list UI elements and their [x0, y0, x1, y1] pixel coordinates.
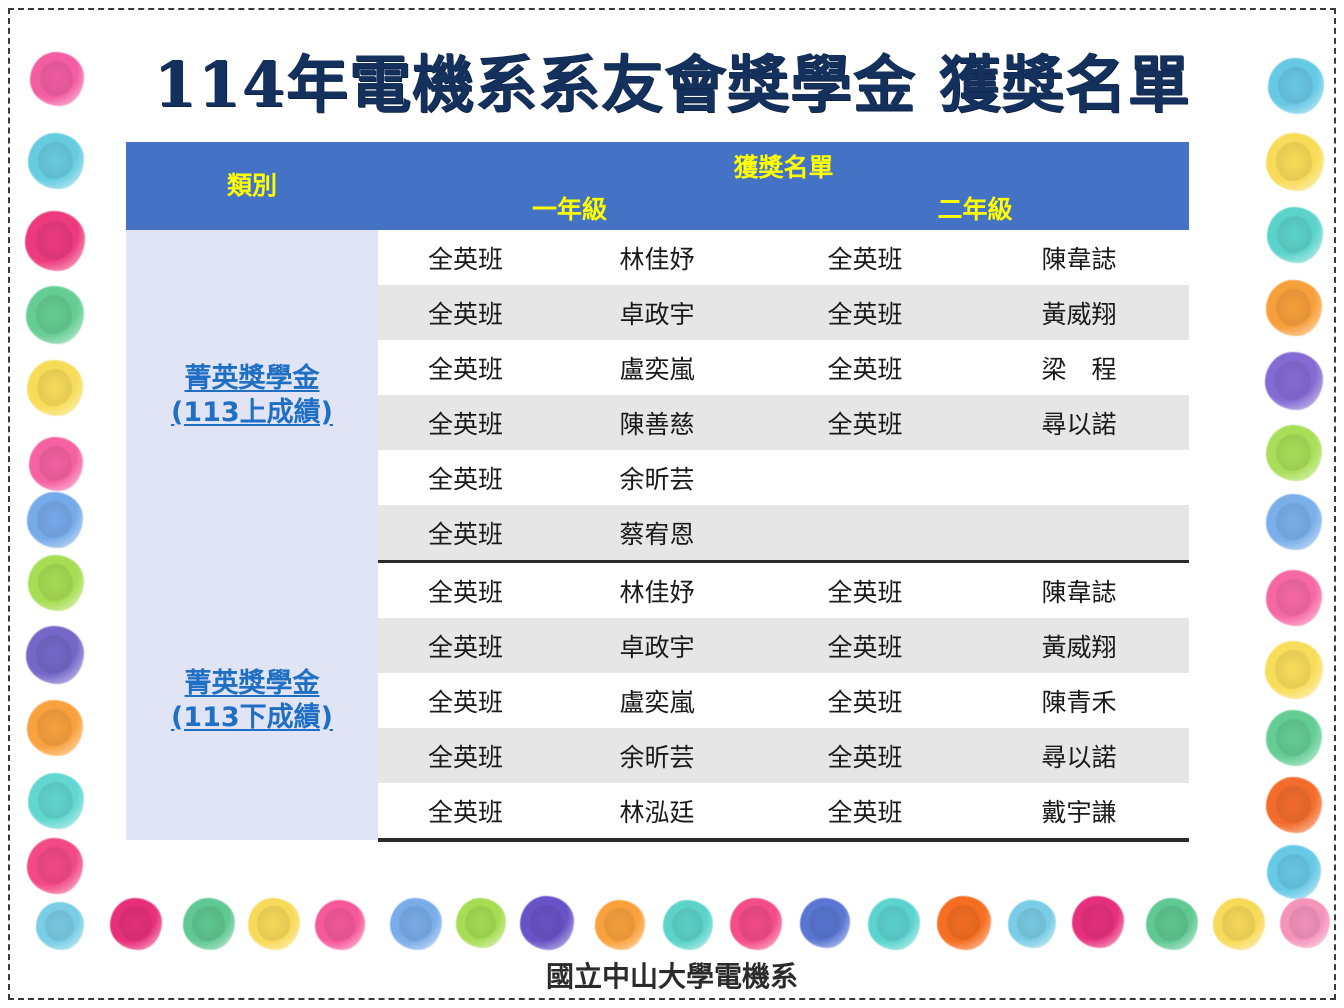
grade2-name-cell: 陳青禾	[969, 673, 1189, 728]
category-label-line1: 菁英獎學金	[185, 668, 320, 699]
page-title: 114年電機系系友會獎學金 獲獎名單	[0, 34, 1344, 124]
grade1-class-cell: 全英班	[378, 505, 553, 562]
grade2-class-cell: 全英班	[761, 673, 969, 728]
grade1-class-cell: 全英班	[378, 285, 553, 340]
footer-department: 國立中山大學電機系	[0, 955, 1344, 995]
grade1-class-cell: 全英班	[378, 450, 553, 505]
header-names-group: 獲獎名單 一年級 二年級	[378, 142, 1189, 230]
grade2-class-cell: 全英班	[761, 340, 969, 395]
category-label-line2: (113下成績)	[126, 701, 378, 735]
watercolor-dot-right-9	[1266, 710, 1322, 766]
category-label-line2: (113上成績)	[126, 396, 378, 430]
watercolor-dot-bottom-1	[110, 898, 162, 950]
grade2-class-cell: 全英班	[761, 562, 969, 619]
grade1-name-cell: 盧奕嵐	[553, 340, 761, 395]
watercolor-dot-left-5	[29, 437, 83, 491]
grade2-name-cell: 戴宇謙	[969, 783, 1189, 840]
grade2-class-cell	[761, 505, 969, 562]
grade1-name-cell: 卓政宇	[553, 618, 761, 673]
watercolor-dot-bottom-17	[1213, 898, 1265, 950]
category-cell: 菁英獎學金(113上成績)	[126, 230, 378, 562]
watercolor-dot-bottom-13	[937, 896, 991, 950]
grade2-name-cell: 陳韋誌	[969, 230, 1189, 285]
grade1-name-cell: 余昕芸	[553, 728, 761, 783]
grade2-name-cell: 陳韋誌	[969, 562, 1189, 619]
grade1-name-cell: 余昕芸	[553, 450, 761, 505]
grade1-name-cell: 林佳妤	[553, 562, 761, 619]
watercolor-dot-right-2	[1267, 207, 1323, 263]
category-label-line1: 菁英獎學金	[185, 363, 320, 394]
header-grade2: 二年級	[761, 190, 1189, 226]
grade1-class-cell: 全英班	[378, 673, 553, 728]
watercolor-dot-bottom-8	[595, 900, 645, 950]
grade1-name-cell: 卓政宇	[553, 285, 761, 340]
watercolor-dot-bottom-4	[315, 900, 365, 950]
watercolor-dot-left-1	[28, 133, 84, 189]
watercolor-dot-bottom-3	[248, 898, 300, 950]
watercolor-dot-bottom-9	[663, 900, 713, 950]
table-row: 菁英獎學金(113下成績)全英班林佳妤全英班陳韋誌	[126, 562, 1189, 619]
grade2-name-cell: 梁 程	[969, 340, 1189, 395]
grade1-class-cell: 全英班	[378, 728, 553, 783]
grade1-class-cell: 全英班	[378, 618, 553, 673]
watercolor-dot-right-7	[1266, 570, 1322, 626]
grade2-class-cell: 全英班	[761, 285, 969, 340]
grade1-class-cell: 全英班	[378, 230, 553, 285]
watercolor-dot-left-7	[28, 555, 84, 611]
grade2-class-cell	[761, 450, 969, 505]
watercolor-dot-left-3	[26, 286, 84, 344]
watercolor-dot-left-2	[25, 211, 85, 271]
watercolor-dot-bottom-5	[390, 898, 442, 950]
watercolor-dot-bottom-16	[1146, 898, 1198, 950]
watercolor-dot-bottom-10	[730, 898, 782, 950]
watercolor-dot-bottom-2	[183, 898, 235, 950]
grade2-class-cell: 全英班	[761, 728, 969, 783]
watercolor-dot-bottom-11	[800, 898, 850, 948]
table-body: 菁英獎學金(113上成績)全英班林佳妤全英班陳韋誌全英班卓政宇全英班黃威翔全英班…	[126, 230, 1189, 840]
watercolor-dot-right-11	[1267, 845, 1321, 899]
grade2-name-cell: 尋以諾	[969, 728, 1189, 783]
watercolor-dot-left-6	[27, 492, 83, 548]
category-label: 菁英獎學金(113下成績)	[126, 667, 378, 735]
award-list-table: 類別 獲獎名單 一年級 二年級 菁英獎學金(113上成績)全英班林佳妤全英班陳韋…	[126, 142, 1189, 842]
watercolor-dot-left-11	[27, 838, 83, 894]
grade2-name-cell	[969, 450, 1189, 505]
grade2-class-cell: 全英班	[761, 618, 969, 673]
table-row: 菁英獎學金(113上成績)全英班林佳妤全英班陳韋誌	[126, 230, 1189, 285]
watercolor-dot-right-1	[1266, 133, 1324, 191]
grade1-name-cell: 林泓廷	[553, 783, 761, 840]
category-label: 菁英獎學金(113上成績)	[126, 362, 378, 430]
grade1-class-cell: 全英班	[378, 562, 553, 619]
grade1-class-cell: 全英班	[378, 340, 553, 395]
watercolor-dot-bottom-14	[1008, 900, 1056, 948]
grade1-name-cell: 盧奕嵐	[553, 673, 761, 728]
watercolor-dot-bottom-7	[520, 896, 574, 950]
watercolor-dot-right-10	[1266, 777, 1322, 833]
watercolor-dot-left-8	[26, 626, 84, 684]
watercolor-dot-left-4	[27, 360, 83, 416]
watercolor-dot-right-6	[1266, 494, 1322, 550]
grade1-class-cell: 全英班	[378, 395, 553, 450]
grade2-name-cell: 尋以諾	[969, 395, 1189, 450]
grade1-name-cell: 陳善慈	[553, 395, 761, 450]
watercolor-dot-right-3	[1266, 280, 1322, 336]
grade2-name-cell: 黃威翔	[969, 285, 1189, 340]
watercolor-dot-bottom-18	[1280, 898, 1330, 948]
table-header: 類別 獲獎名單 一年級 二年級	[126, 142, 1189, 230]
grade1-name-cell: 林佳妤	[553, 230, 761, 285]
watercolor-dot-bottom-12	[868, 898, 920, 950]
watercolor-dot-right-5	[1266, 425, 1322, 481]
watercolor-dot-right-8	[1265, 641, 1323, 699]
header-grade1: 一年級	[378, 190, 761, 226]
grade2-name-cell	[969, 505, 1189, 562]
slide-canvas: 114年電機系系友會獎學金 獲獎名單 類別 獲獎名單 一年級 二年級 菁英獎學金…	[0, 0, 1344, 1008]
grade2-class-cell: 全英班	[761, 783, 969, 840]
grade2-class-cell: 全英班	[761, 230, 969, 285]
watercolor-dot-bottom-0	[36, 902, 84, 950]
watercolor-dot-left-10	[28, 773, 84, 829]
watercolor-dot-left-9	[27, 700, 83, 756]
category-cell: 菁英獎學金(113下成績)	[126, 562, 378, 841]
grade2-class-cell: 全英班	[761, 395, 969, 450]
watercolor-dot-bottom-6	[456, 898, 506, 948]
grade1-name-cell: 蔡宥恩	[553, 505, 761, 562]
header-names-label: 獲獎名單	[378, 148, 1189, 184]
grade2-name-cell: 黃威翔	[969, 618, 1189, 673]
watercolor-dot-bottom-15	[1072, 896, 1124, 948]
header-category: 類別	[126, 142, 378, 230]
watercolor-dot-right-4	[1265, 352, 1323, 410]
grade1-class-cell: 全英班	[378, 783, 553, 840]
